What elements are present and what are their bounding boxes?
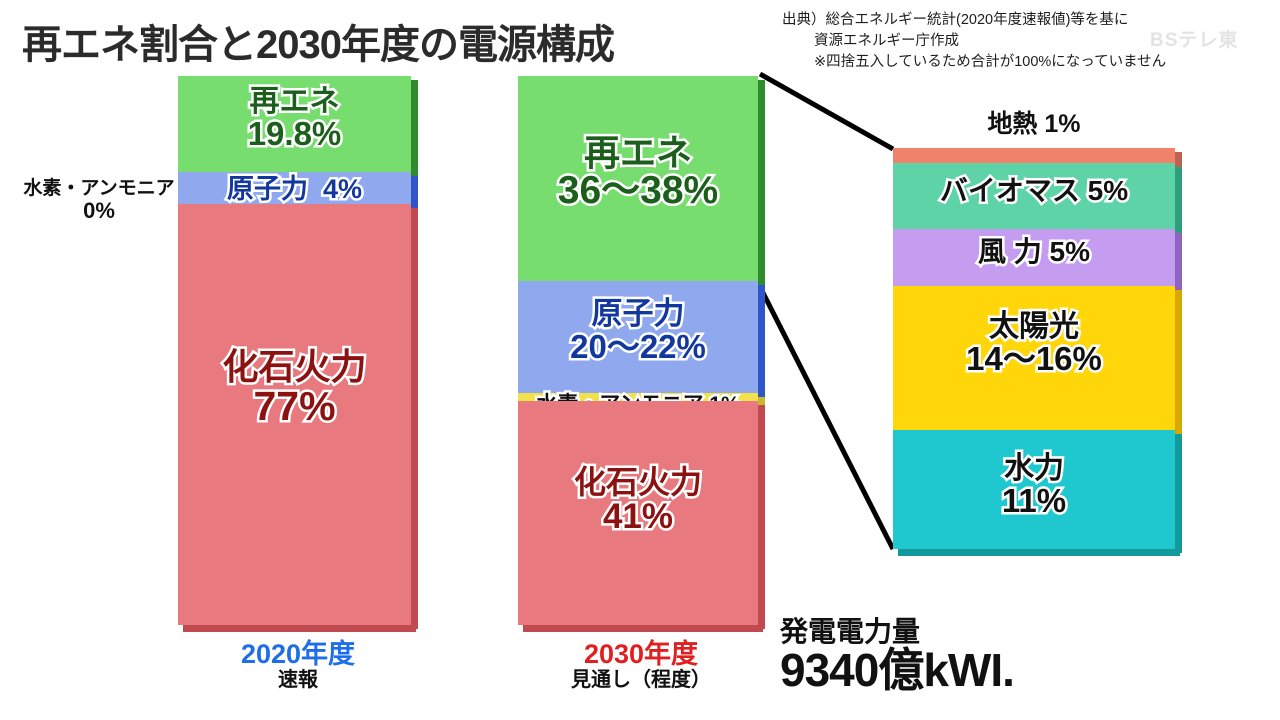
page-title: 再エネ割合と2030年度の電源構成: [22, 12, 614, 70]
bar-2030-side-shadow: [758, 80, 765, 629]
breakdown-side-shadow: [1175, 152, 1182, 553]
segment-hydrogen-2030[interactable]: [518, 393, 758, 401]
total-generation-amount: 9340億kWI.: [780, 646, 1014, 694]
segment-biomass[interactable]: [893, 163, 1175, 229]
total-generation-caption: 発電電力量: [780, 618, 1014, 646]
source-line-3: ※四捨五入しているため合計が100%になっていません: [782, 52, 1166, 73]
segment-geothermal[interactable]: [893, 148, 1175, 163]
segment-solar[interactable]: [893, 286, 1175, 430]
segment-nuclear-2030[interactable]: [518, 281, 758, 393]
chart-canvas: 再エネ割合と2030年度の電源構成 出典）総合エネルギー統計(2020年度速報値…: [0, 0, 1280, 720]
bar-2020-side-shadow: [411, 80, 418, 629]
segment-wind[interactable]: [893, 229, 1175, 286]
footer-2030: 2030年度 見通し（程度）: [518, 640, 764, 692]
label-hydrogen-2020: 水素・アンモニア 0%: [20, 178, 178, 224]
segment-nuclear-2020[interactable]: [178, 172, 411, 204]
bar-renewable-breakdown: バイオマス 5% 風 力 5% 太陽光 14〜16% 水力 11%: [893, 148, 1175, 549]
source-line-2: 資源エネルギー庁作成: [782, 31, 1166, 52]
segment-renewable-2020[interactable]: [178, 76, 411, 172]
broadcaster-watermark: BSテレ東: [1150, 25, 1238, 52]
total-generation: 発電電力量 9340億kWI.: [780, 618, 1014, 694]
footer-2030-sub: 見通し（程度）: [518, 669, 764, 691]
segment-fossil-2020[interactable]: [178, 204, 411, 625]
label-geothermal: 地熱 1%: [893, 110, 1175, 138]
bar-2020: 再エネ 19.8% 原子力 4% 化石火力 77%: [178, 76, 411, 625]
footer-2030-year: 2030年度: [518, 640, 764, 669]
breakdown-bottom-shadow: [898, 549, 1180, 556]
footer-2020: 2020年度 速報: [178, 640, 418, 692]
source-line-1: 出典）総合エネルギー統計(2020年度速報値)等を基に: [782, 12, 1128, 28]
segment-renewable-2030[interactable]: [518, 76, 758, 281]
bar-2020-bottom-shadow: [183, 625, 416, 632]
bar-2030-bottom-shadow: [523, 625, 763, 632]
footer-2020-year: 2020年度: [178, 640, 418, 669]
footer-2020-sub: 速報: [178, 669, 418, 691]
segment-hydro[interactable]: [893, 430, 1175, 549]
bar-2030: 再エネ 36〜38% 原子力 20〜22% 水素・アンモニア 1% 化石火力 4…: [518, 76, 758, 625]
source-note: 出典）総合エネルギー統計(2020年度速報値)等を基に 資源エネルギー庁作成 ※…: [782, 10, 1166, 73]
segment-fossil-2030[interactable]: [518, 401, 758, 625]
